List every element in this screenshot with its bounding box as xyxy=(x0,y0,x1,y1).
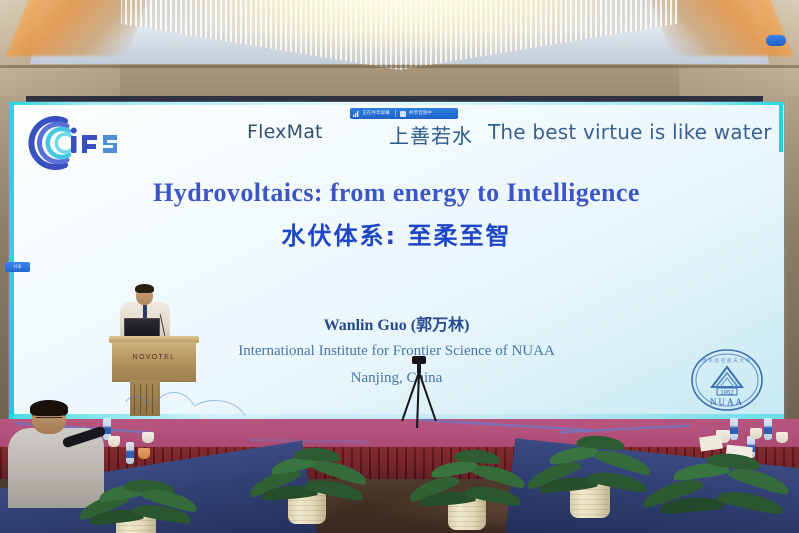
slide-title-en: Hydrovoltaics: from energy to Intelligen… xyxy=(9,178,784,208)
wall-seam xyxy=(786,96,787,426)
badge-divider xyxy=(395,110,396,117)
potted-plant xyxy=(640,440,799,533)
audio-status-label: 共享音频中 xyxy=(409,108,432,118)
flexmat-label: FlexMat xyxy=(247,121,323,143)
slide-title-cn: 水伏体系: 至柔至智 xyxy=(9,216,784,251)
podium xyxy=(112,342,196,382)
ceiling-lower-soffit xyxy=(0,66,799,96)
coffee-cup xyxy=(750,428,762,439)
screen-share-badge: 正在共享屏幕 共享音频中 xyxy=(350,108,458,119)
slide-header: 正在共享屏幕 共享音频中 FlexMat 上善若水 The best virtu… xyxy=(9,107,784,163)
calligraphy-en: The best virtue is like water xyxy=(488,120,772,144)
camera-tripod xyxy=(396,356,442,424)
screen-border-left xyxy=(9,102,14,419)
screen-tab-left[interactable]: 共享 xyxy=(5,262,30,272)
calligraphy-cn: 上善若水 xyxy=(389,120,473,149)
coffee-cup xyxy=(142,432,154,443)
conference-photo: 正在共享屏幕 共享音频中 FlexMat 上善若水 The best virtu… xyxy=(0,0,799,533)
signal-bars-icon xyxy=(353,111,359,117)
coffee-cup xyxy=(108,436,120,447)
svg-text:南京航空航天大学: 南京航空航天大学 xyxy=(702,357,752,364)
water-bottle xyxy=(126,442,134,464)
potted-plant xyxy=(248,440,398,525)
svg-text:1952: 1952 xyxy=(720,391,734,397)
attendee-glasses xyxy=(36,417,62,423)
attendee-hair xyxy=(30,400,68,416)
screen-tab-left-label: 共享 xyxy=(5,262,30,272)
screen-border-top xyxy=(9,102,784,105)
speaker-icon xyxy=(400,111,406,117)
potted-plant xyxy=(80,470,230,533)
ifs-logo-icon xyxy=(23,115,127,171)
tripod-leg xyxy=(418,372,437,422)
potted-plant xyxy=(410,440,550,532)
nuaa-seal-icon: 1952 NUAA 南京航空航天大学 xyxy=(688,347,766,417)
presenter-hair xyxy=(135,284,154,293)
juice-cup xyxy=(138,448,150,459)
screen-tab-right[interactable] xyxy=(766,35,786,46)
share-status-label: 正在共享屏幕 xyxy=(362,108,390,118)
screen-border-right xyxy=(779,104,783,152)
podium-brand-label: NOVOTEL xyxy=(112,354,196,361)
ceiling xyxy=(0,0,799,96)
chandelier-glow xyxy=(190,0,610,56)
water-bottle xyxy=(764,418,772,440)
svg-text:NUAA: NUAA xyxy=(710,397,744,407)
water-bottle xyxy=(730,418,738,440)
